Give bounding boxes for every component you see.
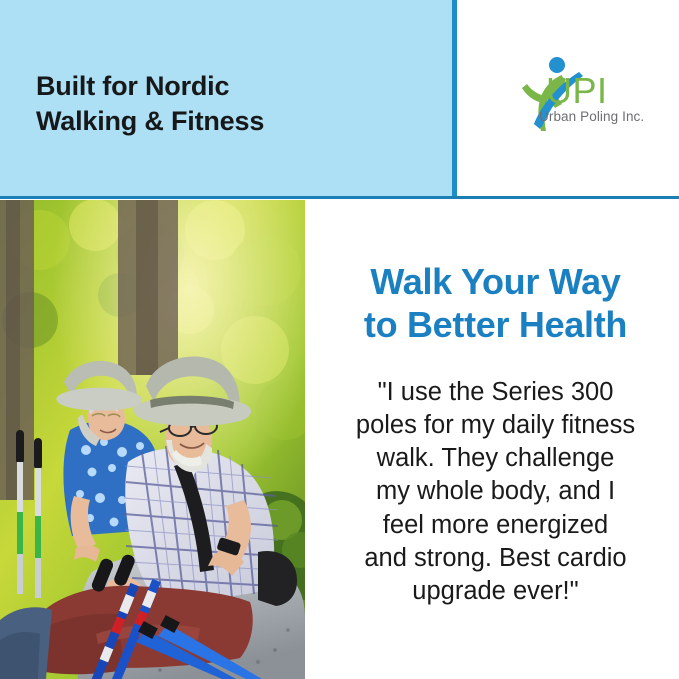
product-infographic: Built for Nordic Walking & Fitness UPI U… (0, 0, 679, 679)
quote-line: walk. They challenge (377, 444, 615, 472)
header-vertical-divider (452, 0, 457, 196)
header-band: Built for Nordic Walking & Fitness UPI U… (0, 0, 679, 200)
quote-line: and strong. Best cardio (364, 544, 626, 572)
header-title: Built for Nordic Walking & Fitness (36, 69, 436, 139)
quote-line: poles for my daily fitness (356, 411, 635, 439)
testimonial-column: Walk Your Way to Better Health "I use th… (312, 200, 679, 679)
header-title-line1: Built for Nordic (36, 71, 229, 101)
lifestyle-photo (0, 200, 305, 679)
header-horizontal-rule (0, 196, 679, 199)
header-title-line2: Walking & Fitness (36, 104, 436, 139)
quote-line: feel more energized (383, 511, 608, 539)
headline: Walk Your Way to Better Health (320, 260, 671, 346)
quote-line: upgrade ever!" (412, 577, 578, 605)
brand-logo[interactable]: UPI Urban Poling Inc. (505, 52, 655, 144)
logo-wordmark: UPI (546, 73, 608, 109)
logo-tagline: Urban Poling Inc. (539, 109, 644, 124)
quote-line: "I use the Series 300 (378, 378, 614, 406)
headline-line2: to Better Health (320, 303, 671, 346)
quote-line: my whole body, and I (376, 477, 615, 505)
headline-line1: Walk Your Way (370, 261, 620, 302)
customer-quote: "I use the Series 300 poles for my daily… (318, 376, 673, 608)
photo-illustration (0, 200, 305, 679)
